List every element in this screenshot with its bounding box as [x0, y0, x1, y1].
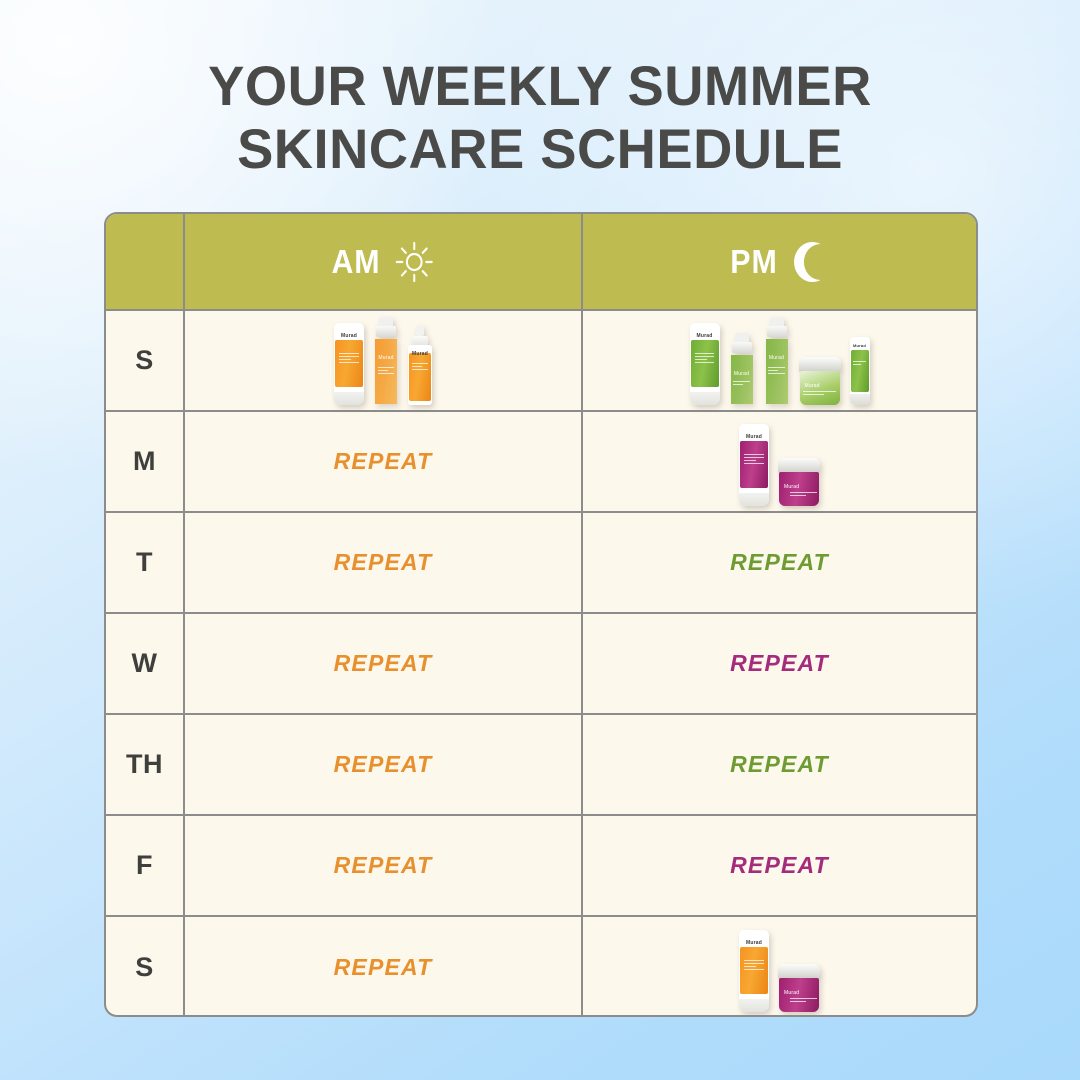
cell-pm-tuesday: REPEAT: [583, 513, 976, 612]
product-pump-green-small: Murad: [729, 333, 755, 405]
product-tube-magenta: Murad: [739, 424, 769, 506]
product-dropper-orange: Murad: [408, 325, 432, 405]
cell-am-tuesday: REPEAT: [185, 513, 583, 612]
cell-am-monday: REPEAT: [185, 412, 583, 511]
day-label: TH: [106, 715, 185, 814]
am-header-label-group: AM: [332, 241, 434, 283]
product-pump-orange: Murad: [373, 317, 399, 405]
brand-label: Murad: [408, 351, 432, 357]
am-label: AM: [332, 243, 381, 281]
cell-pm-monday: Murad Murad: [583, 412, 976, 511]
day-label: T: [106, 513, 185, 612]
repeat-text: REPEAT: [334, 549, 433, 576]
table-row: F REPEAT REPEAT: [106, 816, 976, 917]
day-label: S: [106, 917, 185, 1017]
brand-label: Murad: [334, 333, 364, 339]
brand-label: Murad: [739, 940, 769, 946]
day-label: S: [106, 311, 185, 410]
cell-am-wednesday: REPEAT: [185, 614, 583, 713]
repeat-text: REPEAT: [334, 954, 433, 981]
repeat-text: REPEAT: [334, 852, 433, 879]
brand-label: Murad: [739, 434, 769, 440]
table-header-row: AM PM: [106, 214, 976, 311]
brand-label: Murad: [784, 990, 799, 996]
day-label: F: [106, 816, 185, 915]
header-day-column: [106, 214, 185, 309]
header-am-column: AM: [185, 214, 583, 309]
table-row: T REPEAT REPEAT: [106, 513, 976, 614]
repeat-text: REPEAT: [730, 549, 829, 576]
product-tube-orange: Murad: [334, 323, 364, 405]
repeat-text: REPEAT: [730, 751, 829, 778]
title-line-2: SKINCARE SCHEDULE: [16, 118, 1064, 181]
day-label: M: [106, 412, 185, 511]
brand-label: Murad: [764, 355, 790, 361]
page-title: YOUR WEEKLY SUMMER SKINCARE SCHEDULE: [16, 55, 1064, 180]
product-group-am-sunday: Murad Murad Murad: [334, 317, 432, 405]
product-pump-green: Murad: [764, 317, 790, 405]
repeat-text: REPEAT: [730, 650, 829, 677]
brand-label: Murad: [690, 333, 720, 339]
brand-label: Murad: [373, 355, 399, 361]
cell-am-friday: REPEAT: [185, 816, 583, 915]
cell-am-sunday: Murad Murad Murad: [185, 311, 583, 410]
cell-pm-wednesday: REPEAT: [583, 614, 976, 713]
day-label: W: [106, 614, 185, 713]
header-pm-column: PM: [583, 214, 976, 309]
cell-am-thursday: REPEAT: [185, 715, 583, 814]
cell-pm-saturday: Murad Murad: [583, 917, 976, 1017]
title-line-1: YOUR WEEKLY SUMMER: [16, 55, 1064, 118]
sun-icon: [396, 241, 435, 283]
repeat-text: REPEAT: [334, 448, 433, 475]
product-jar-magenta: Murad: [778, 458, 820, 506]
cell-pm-thursday: REPEAT: [583, 715, 976, 814]
cell-am-saturday: REPEAT: [185, 917, 583, 1017]
brand-label: Murad: [784, 484, 799, 490]
table-row: S REPEAT Murad Murad: [106, 917, 976, 1017]
moon-icon: [792, 241, 829, 283]
product-group-pm-saturday: Murad Murad: [739, 924, 820, 1012]
cell-pm-sunday: Murad Murad Murad Murad: [583, 311, 976, 410]
brand-label: Murad: [729, 371, 755, 377]
cell-pm-friday: REPEAT: [583, 816, 976, 915]
product-group-pm-sunday: Murad Murad Murad Murad: [690, 317, 870, 405]
table-row: S Murad Murad Murad: [106, 311, 976, 412]
brand-label: Murad: [850, 343, 870, 348]
product-jar-green: Murad: [799, 357, 841, 405]
product-group-pm-monday: Murad Murad: [739, 418, 820, 506]
table-row: TH REPEAT REPEAT: [106, 715, 976, 816]
product-jar-magenta: Murad: [778, 964, 820, 1012]
weekly-schedule-table: AM PM: [104, 212, 978, 1017]
product-tube-orange: Murad: [739, 930, 769, 1012]
pm-label: PM: [730, 243, 777, 281]
product-tube-green: Murad: [690, 323, 720, 405]
table-row: M REPEAT Murad Murad: [106, 412, 976, 513]
brand-label: Murad: [805, 383, 820, 389]
table-row: W REPEAT REPEAT: [106, 614, 976, 715]
repeat-text: REPEAT: [730, 852, 829, 879]
product-mini-tube-green: Murad: [850, 337, 870, 405]
repeat-text: REPEAT: [334, 751, 433, 778]
pm-header-label-group: PM: [730, 241, 829, 283]
repeat-text: REPEAT: [334, 650, 433, 677]
